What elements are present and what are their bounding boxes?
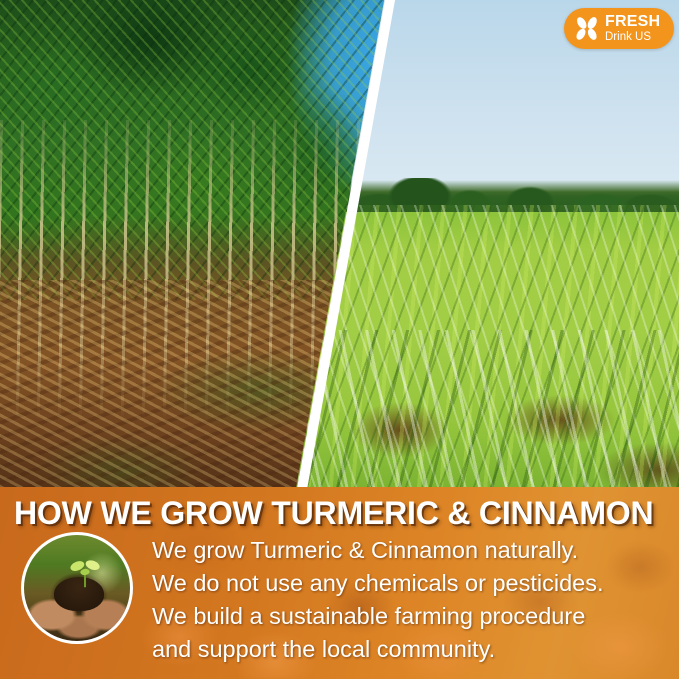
hands-holding-sprout-photo [21,532,133,644]
body-line-1: We grow Turmeric & Cinnamon naturally. [152,534,672,567]
body-line-2: We do not use any chemicals or pesticide… [152,567,672,600]
body-line-4: and support the local community. [152,633,672,666]
headline: HOW WE GROW TURMERIC & CINNAMON [14,495,664,532]
logo-text-block: FRESH Drink US [605,14,660,44]
logo-primary-text: FRESH [605,14,660,30]
leaf-flower-icon [572,14,602,44]
brand-logo-badge[interactable]: FRESH Drink US [564,8,674,49]
body-copy: We grow Turmeric & Cinnamon naturally. W… [152,534,672,666]
body-line-3: We build a sustainable farming procedure [152,600,672,633]
infographic-card: FRESH Drink US HOW WE GROW TURMERIC & CI… [0,0,679,679]
sprout-icon [68,555,102,589]
logo-secondary-text: Drink US [605,32,660,44]
photo-area: FRESH Drink US [0,0,679,488]
